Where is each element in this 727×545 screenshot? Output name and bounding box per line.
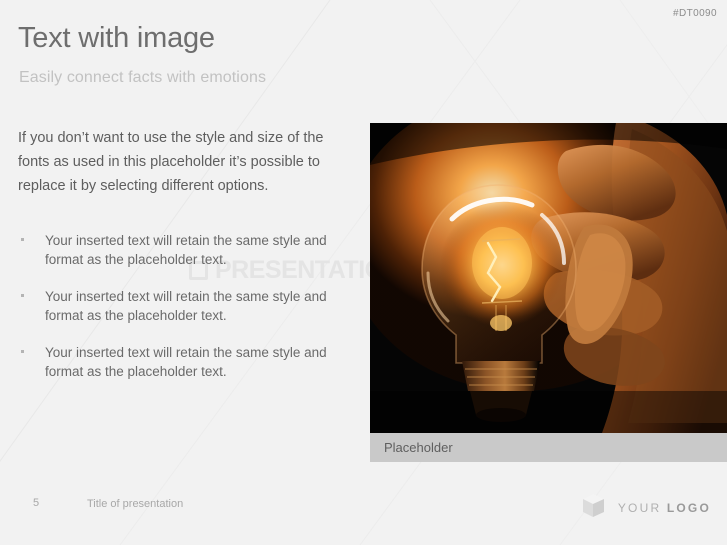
logo-text: YOUR LOGO <box>618 501 711 515</box>
list-item-label: Your inserted text will retain the same … <box>45 233 327 267</box>
slide-number: 5 <box>33 497 39 509</box>
list-item-label: Your inserted text will retain the same … <box>45 345 327 379</box>
image-placeholder[interactable] <box>370 123 727 433</box>
list-item-label: Your inserted text will retain the same … <box>45 289 327 323</box>
image-caption-label: Placeholder <box>370 440 453 455</box>
logo-text-light: YOUR <box>618 501 667 515</box>
logo-text-bold: LOGO <box>667 501 711 515</box>
page-title: Text with image <box>18 23 215 55</box>
bullet-list: Your inserted text will retain the same … <box>18 231 348 399</box>
bullet-marker-icon <box>21 294 24 297</box>
logo[interactable]: YOUR LOGO <box>580 492 711 524</box>
document-id: #DT0090 <box>673 8 717 19</box>
bullet-marker-icon <box>21 350 24 353</box>
page-subtitle: Easily connect facts with emotions <box>19 69 266 87</box>
image-caption-bar[interactable]: Placeholder <box>370 433 727 462</box>
body-paragraph: If you don’t want to use the style and s… <box>18 126 340 198</box>
footer-presentation-title: Title of presentation <box>87 498 183 510</box>
list-item: Your inserted text will retain the same … <box>18 343 348 381</box>
cube-icon <box>580 492 606 524</box>
slide-canvas: #DT0090 Text with image Easily connect f… <box>0 0 727 545</box>
list-item: Your inserted text will retain the same … <box>18 287 348 325</box>
bullet-marker-icon <box>21 238 24 241</box>
list-item: Your inserted text will retain the same … <box>18 231 348 269</box>
